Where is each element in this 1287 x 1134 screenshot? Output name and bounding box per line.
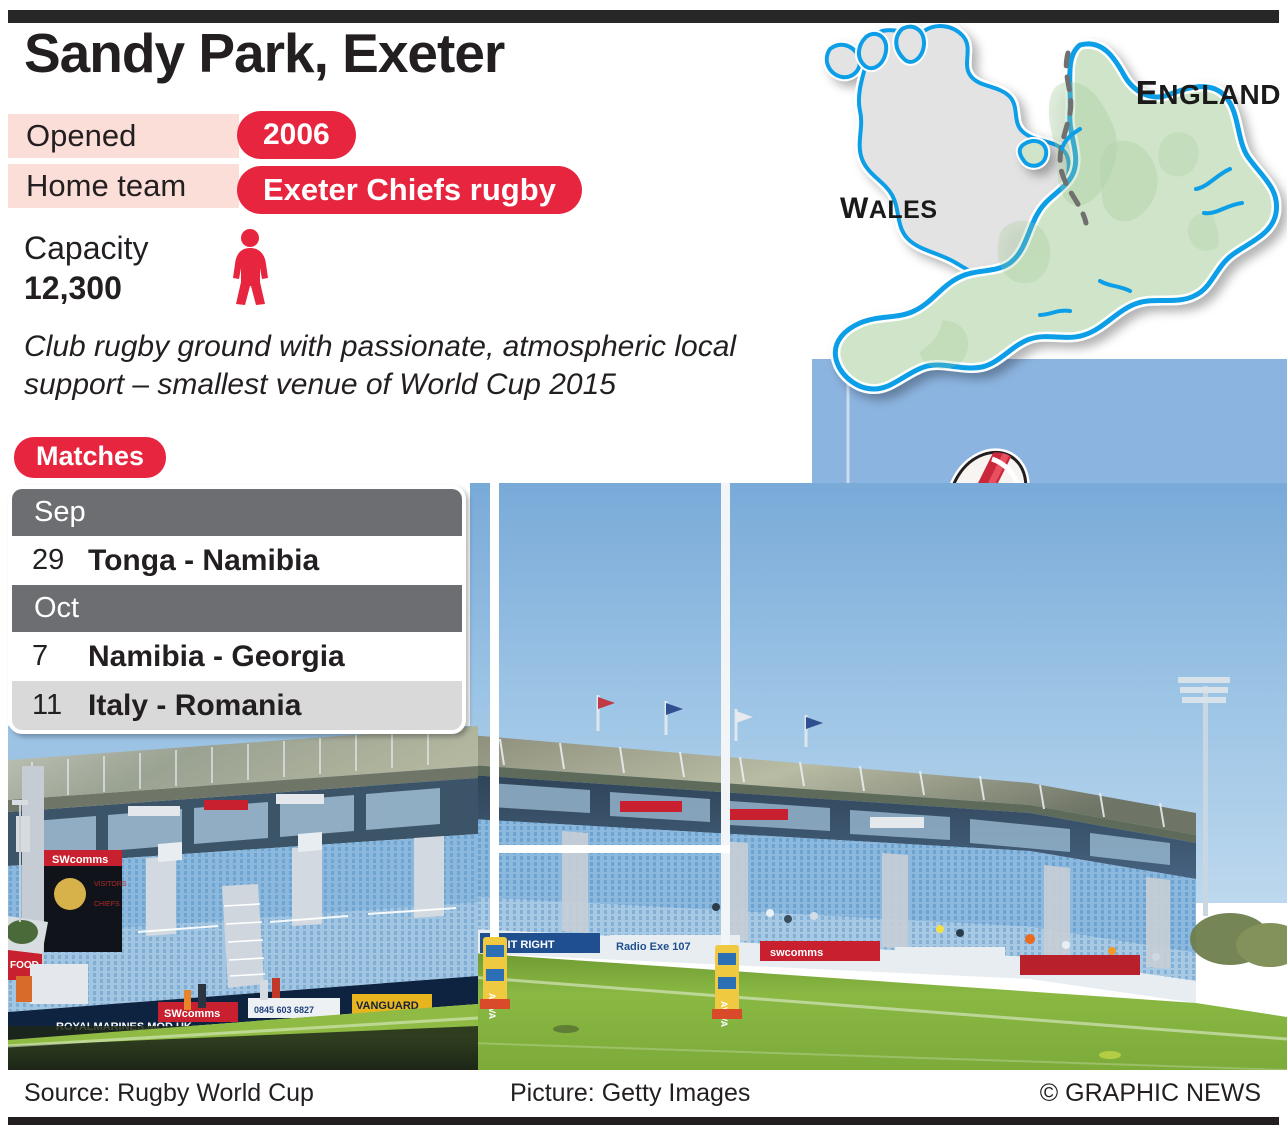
fact-value-home-team: Exeter Chiefs rugby	[237, 166, 582, 214]
stadium-photo: DO IT RIGHT Radio Exe 107 swcomms	[470, 483, 1287, 1070]
match-fixture: Namibia - Georgia	[86, 640, 345, 674]
match-day: 11	[12, 689, 86, 722]
infographic-page: England Wales	[0, 0, 1287, 1134]
map-label-wales: Wales	[840, 181, 938, 229]
table-row[interactable]: 11 Italy - Romania	[12, 681, 462, 730]
svg-text:0845 603 6827: 0845 603 6827	[254, 1005, 314, 1015]
svg-text:CHIEFS: CHIEFS	[94, 901, 120, 908]
stadium-photo-graphic: DO IT RIGHT Radio Exe 107 swcomms	[470, 483, 1287, 1070]
svg-text:VISITORS: VISITORS	[94, 881, 127, 888]
footer-graphic-news: © GRAPHIC NEWS	[1040, 1079, 1261, 1108]
map-label-england: England	[1136, 61, 1281, 116]
bottom-rule	[8, 1117, 1279, 1125]
match-fixture: Tonga - Namibia	[86, 544, 319, 578]
matches-month-header: Sep	[12, 489, 462, 536]
person-icon	[227, 228, 273, 306]
fact-value-opened: 2006	[237, 111, 356, 159]
stadium-photo-left: SWcomms VISITORS CHIEFS ROYALMARINES.MOD…	[8, 726, 478, 1070]
footer-picture-credit: Picture: Getty Images	[510, 1079, 750, 1108]
match-day: 29	[12, 544, 86, 577]
matches-table: Sep 29 Tonga - Namibia Oct 7 Namibia - G…	[8, 485, 466, 734]
svg-text:swcomms: swcomms	[770, 947, 823, 959]
staircase	[222, 884, 264, 988]
match-day: 7	[12, 640, 86, 673]
match-fixture: Italy - Romania	[86, 689, 301, 723]
page-title: Sandy Park, Exeter	[24, 26, 504, 81]
footer-source: Source: Rugby World Cup	[24, 1079, 314, 1108]
stadium-photo-left-graphic: SWcomms VISITORS CHIEFS ROYALMARINES.MOD…	[8, 726, 478, 1070]
svg-text:SWcomms: SWcomms	[164, 1008, 220, 1020]
trees	[1190, 913, 1287, 967]
capacity-value: 12,300	[24, 270, 122, 307]
fact-label-opened: Opened	[26, 114, 136, 158]
matches-month-header: Oct	[12, 585, 462, 632]
table-row[interactable]: 29 Tonga - Namibia	[12, 536, 462, 585]
matches-badge: Matches	[14, 437, 166, 478]
capacity-label: Capacity	[24, 230, 149, 267]
table-row[interactable]: 7 Namibia - Georgia	[12, 632, 462, 681]
svg-text:SWcomms: SWcomms	[52, 854, 108, 866]
venue-description: Club rugby ground with passionate, atmos…	[24, 328, 814, 403]
fact-label-home-team: Home team	[26, 164, 186, 208]
svg-text:Radio Exe 107: Radio Exe 107	[616, 941, 691, 953]
